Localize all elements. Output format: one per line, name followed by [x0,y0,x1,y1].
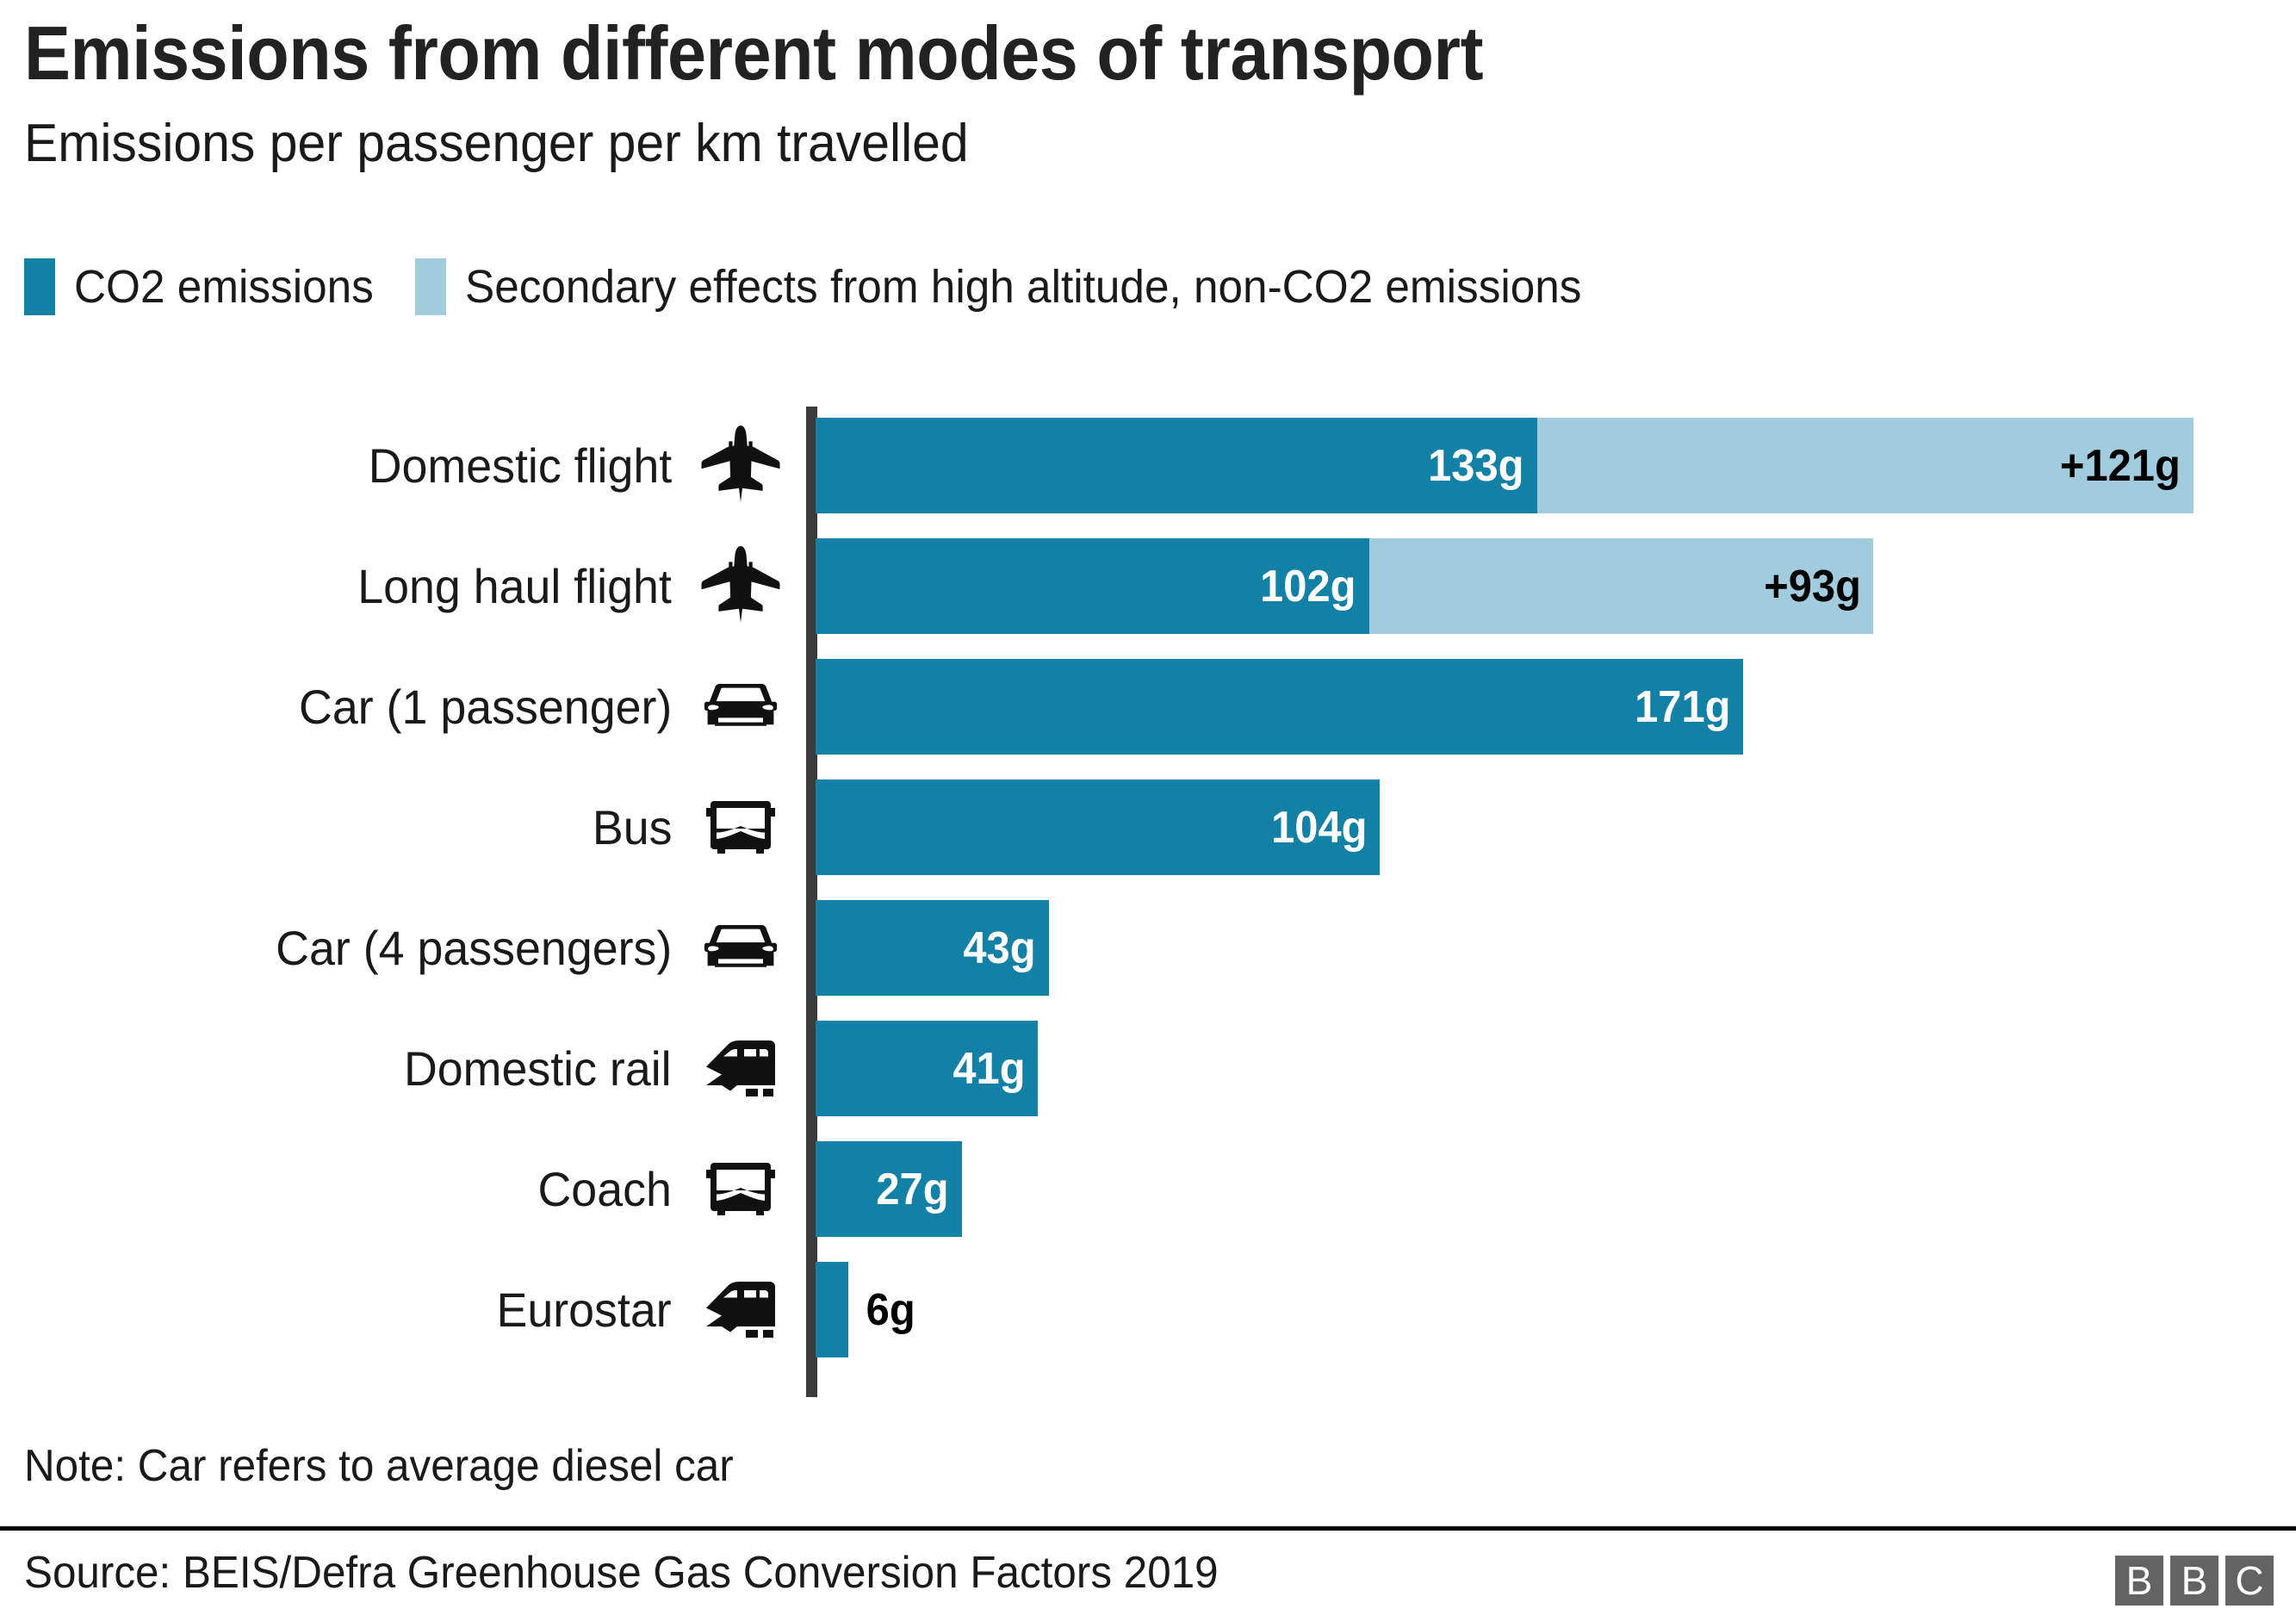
car-icon [689,887,792,1008]
stacked-bar[interactable]: 27g [816,1141,962,1237]
stacked-bar[interactable]: 171g [816,659,1743,755]
chart-note: Note: Car refers to average diesel car [24,1440,734,1492]
bus-icon [689,767,792,887]
bbc-emissions-chart: Emissions from different modes of transp… [0,0,2296,1615]
stacked-bar[interactable]: 41g [816,1021,1038,1116]
legend-label-1: CO2 emissions [74,264,374,310]
bar-value-label: 6g [848,1288,915,1332]
bar-segment-co2[interactable]: 27g [816,1141,962,1237]
bar-row[interactable]: Bus104g [0,767,2296,887]
legend-swatch-2 [415,258,446,315]
bar-row[interactable]: Eurostar6g [0,1249,2296,1370]
bar-value-label: 43g [964,926,1049,971]
bar-value-label: 41g [953,1047,1038,1091]
legend-entry-2: Secondary effects from high altitude, no… [415,258,1641,315]
legend-swatch-1 [24,258,55,315]
car-icon [689,646,792,767]
bar-segment-co2[interactable]: 6g [816,1262,848,1357]
bar-segment-co2[interactable]: 133g [816,418,1537,513]
chart-header: Emissions from different modes of transp… [24,16,2279,171]
bar-row[interactable]: Car (4 passengers)43g [0,887,2296,1008]
bar-segment-secondary[interactable]: +93g [1369,538,1874,634]
stacked-bar[interactable]: 133g+121g [816,418,2194,513]
bar-value-label: 171g [1635,685,1743,730]
bar-value-label: 133g [1428,444,1536,488]
bar-value-label: 102g [1260,564,1368,609]
stacked-bar[interactable]: 104g [816,780,1380,875]
bbc-logo-letter-1: B [2115,1556,2163,1606]
train-icon [689,1008,792,1128]
airplane-icon [689,525,792,646]
category-label: Bus [592,767,672,887]
plot-area: Domestic flight133g+121gLong haul flight… [0,405,2296,1400]
bar-value-label: +93g [1764,564,1874,609]
bar-row[interactable]: Coach27g [0,1128,2296,1249]
bar-segment-co2[interactable]: 43g [816,900,1049,996]
category-label: Eurostar [497,1249,672,1370]
stacked-bar[interactable]: 102g+93g [816,538,1873,634]
bar-segment-co2[interactable]: 171g [816,659,1743,755]
bar-segment-co2[interactable]: 104g [816,780,1380,875]
bar-segment-co2[interactable]: 102g [816,538,1369,634]
train-icon [689,1249,792,1370]
bar-row[interactable]: Domestic rail41g [0,1008,2296,1128]
page-subtitle: Emissions per passenger per km travelled [24,117,2166,171]
footer-divider [0,1526,2296,1531]
chart-legend: CO2 emissionsSecondary effects from high… [24,258,1666,315]
bbc-logo-letter-2: B [2170,1556,2218,1606]
bar-segment-secondary[interactable]: +121g [1537,418,2194,513]
category-label: Coach [538,1128,672,1249]
page-title: Emissions from different modes of transp… [24,16,2099,91]
bar-row[interactable]: Long haul flight102g+93g [0,525,2296,646]
category-label: Car (4 passengers) [276,887,672,1008]
stacked-bar[interactable]: 43g [816,900,1049,996]
bar-value-label: +121g [2060,444,2194,488]
bbc-logo: BBC [2115,1556,2274,1606]
bar-value-label: 104g [1271,805,1380,850]
bar-row[interactable]: Car (1 passenger)171g [0,646,2296,767]
bar-value-label: 27g [877,1167,962,1212]
chart-source: Source: BEIS/Defra Greenhouse Gas Conver… [24,1547,1219,1599]
bbc-logo-letter-3: C [2225,1556,2274,1606]
legend-label-2: Secondary effects from high altitude, no… [465,264,1581,310]
bar-row[interactable]: Domestic flight133g+121g [0,405,2296,525]
category-label: Domestic rail [404,1008,672,1128]
airplane-icon [689,405,792,525]
bus-icon [689,1128,792,1249]
category-label: Domestic flight [368,405,672,525]
category-label: Long haul flight [357,525,672,646]
category-label: Car (1 passenger) [299,646,672,767]
bar-segment-co2[interactable]: 41g [816,1021,1038,1116]
stacked-bar[interactable]: 6g [816,1262,848,1357]
legend-entry-1: CO2 emissions [24,258,389,315]
